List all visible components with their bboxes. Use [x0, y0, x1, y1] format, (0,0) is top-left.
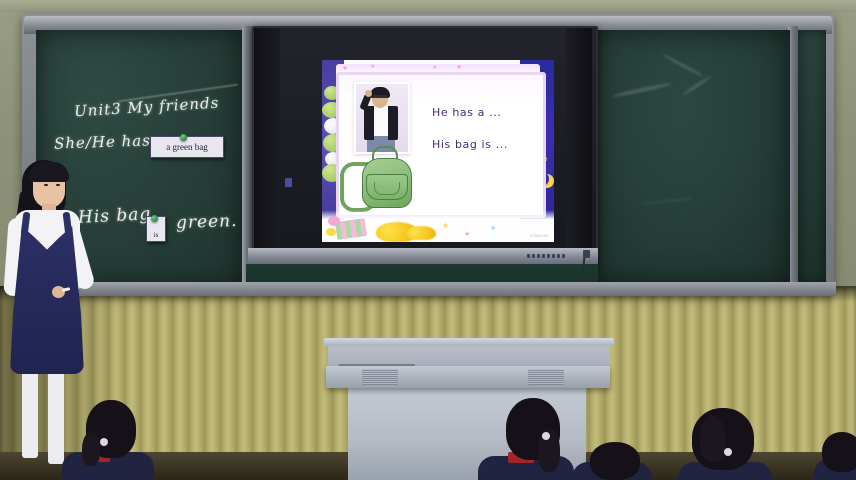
slide-text-line-2: His bag is ...: [432, 138, 508, 151]
student-hair-tie: [100, 438, 108, 446]
backpack-pocket-seam: [374, 182, 400, 195]
star-icon: ★: [432, 65, 437, 71]
whiteboard-right-bezel: [566, 28, 592, 262]
whiteboard-power-knob[interactable]: [583, 250, 590, 258]
photo-glasses: [373, 95, 387, 98]
yellow-flowers-decor: [406, 226, 436, 240]
teacher-leg-right: [48, 366, 64, 464]
teacher-leg-left: [22, 366, 38, 458]
star-icon: ★: [490, 225, 496, 232]
star-icon: ★: [342, 65, 348, 72]
student-hair-tie: [724, 448, 732, 456]
teacher-eye: [44, 184, 48, 186]
podium-speaker-grille: [362, 369, 398, 385]
slide-watermark: xiaoxue: [530, 233, 548, 238]
blackboard-far-right-panel[interactable]: [798, 30, 826, 284]
student-head: [822, 432, 856, 472]
confetti-blob: [328, 216, 340, 226]
student-head: [590, 442, 640, 480]
whiteboard-port-icon[interactable]: [285, 178, 292, 187]
teacher-eye: [56, 184, 60, 186]
projected-slide[interactable]: ★ ★ ★ ★ ★ ★ ★ ★ ★ ★: [322, 60, 554, 242]
teacher-hair-front: [29, 162, 69, 182]
magnet-icon[interactable]: [180, 134, 187, 141]
slide-text-line-1: He has a ...: [432, 106, 501, 119]
photo-jacket-left: [364, 106, 374, 140]
backpack-graphic: [340, 144, 420, 214]
star-icon: ★: [370, 64, 375, 70]
magnet-icon[interactable]: [151, 215, 158, 222]
chalk-text-green: green.: [176, 211, 238, 233]
star-icon: ★: [464, 231, 470, 238]
blackboard-frame-bottom-rail: [20, 282, 836, 296]
whiteboard-left-bezel: [254, 28, 280, 262]
confetti-blob: [326, 228, 336, 236]
ceiling-strip: [0, 0, 856, 12]
photo-hand: [365, 90, 372, 97]
chalk-text-she-he-has: She/He has: [54, 131, 151, 152]
student-ponytail: [82, 432, 100, 466]
podium-desk-rim: [324, 338, 614, 346]
star-icon: ★: [456, 64, 462, 71]
whiteboard-control-buttons[interactable]: [527, 252, 579, 259]
classroom-scene: Unit3 My friends She/He has His bag gree…: [0, 0, 856, 480]
photo-jacket-right: [388, 106, 398, 140]
podium-speaker-grille: [528, 369, 564, 385]
star-icon: ★: [442, 222, 449, 230]
word-card-green-bag[interactable]: a green bag: [150, 136, 224, 158]
student-hair-tie: [542, 432, 550, 440]
student-hair-bun: [700, 416, 726, 462]
